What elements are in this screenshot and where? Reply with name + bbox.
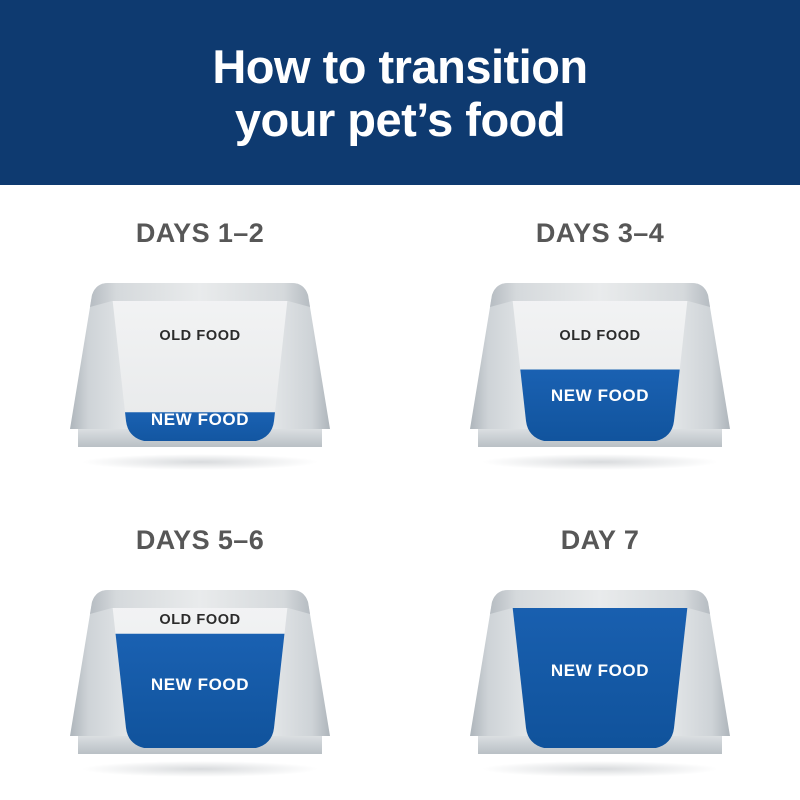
food-bowl-days-1-2: OLD FOOD NEW FOOD xyxy=(50,261,350,476)
old-food-label: OLD FOOD xyxy=(559,328,640,344)
bowl-illustration: NEW FOOD xyxy=(450,568,750,783)
new-food-label: NEW FOOD xyxy=(151,410,249,429)
step-card-days-5-6: DAYS 5–6 xyxy=(0,492,400,800)
page-header: How to transition your pet’s food xyxy=(0,0,800,185)
bowl-illustration: OLD FOOD NEW FOOD xyxy=(50,261,350,476)
food-bowl-days-3-4: OLD FOOD NEW FOOD xyxy=(450,261,750,476)
step-day-label: DAYS 3–4 xyxy=(536,218,664,249)
new-food-label: NEW FOOD xyxy=(551,661,649,680)
step-day-label: DAYS 5–6 xyxy=(136,525,264,556)
bowl-illustration: OLD FOOD NEW FOOD xyxy=(450,261,750,476)
new-food-label: NEW FOOD xyxy=(551,386,649,405)
old-food-label: OLD FOOD xyxy=(159,612,240,628)
step-card-days-3-4: DAYS 3–4 xyxy=(400,185,800,492)
page-title-line-1: How to transition xyxy=(212,40,587,93)
infographic-page: How to transition your pet’s food DAYS 1… xyxy=(0,0,800,800)
new-food-label: NEW FOOD xyxy=(151,675,249,694)
old-food-label: OLD FOOD xyxy=(159,328,240,344)
step-card-days-1-2: DAYS 1–2 xyxy=(0,185,400,492)
food-bowl-day-7: NEW FOOD xyxy=(450,568,750,783)
page-title-line-2: your pet’s food xyxy=(235,93,565,146)
step-day-label: DAYS 1–2 xyxy=(136,218,264,249)
step-card-day-7: DAY 7 xyxy=(400,492,800,800)
transition-steps-grid: DAYS 1–2 xyxy=(0,185,800,800)
step-day-label: DAY 7 xyxy=(561,525,640,556)
bowl-illustration: OLD FOOD NEW FOOD xyxy=(50,568,350,783)
food-bowl-days-5-6: OLD FOOD NEW FOOD xyxy=(50,568,350,783)
